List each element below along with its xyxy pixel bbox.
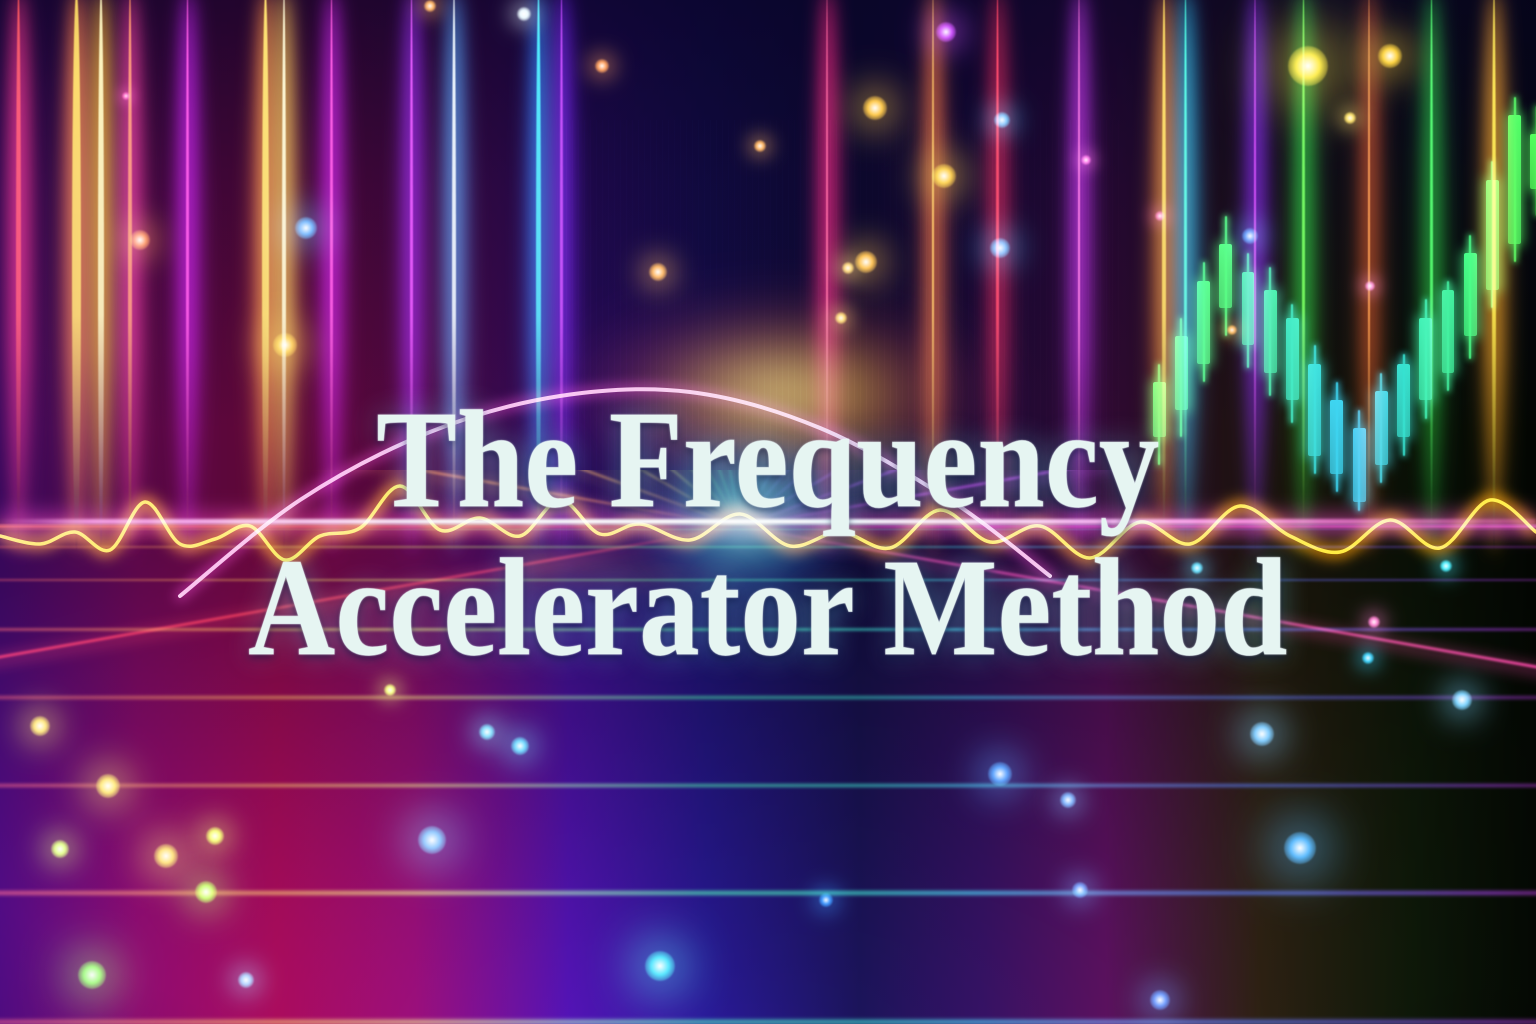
candlestick-body	[1264, 290, 1277, 373]
title-line-1: The Frequency	[0, 393, 1536, 527]
title-card-canvas: The Frequency Accelerator Method	[0, 0, 1536, 1024]
bokeh-dot-5	[863, 96, 887, 120]
candlestick-body	[1242, 272, 1255, 346]
bokeh-dot-24	[424, 0, 436, 12]
candlestick-body	[1286, 318, 1299, 401]
bokeh-dot-11	[295, 217, 317, 239]
bokeh-dot-0	[517, 7, 531, 21]
title-line-2: Accelerator Method	[0, 541, 1536, 675]
candlestick-body	[1486, 180, 1499, 290]
candlestick-body	[1442, 290, 1455, 373]
page-title: The Frequency Accelerator Method	[0, 403, 1536, 664]
candlestick-body	[1530, 134, 1536, 189]
candlestick-body	[1464, 253, 1477, 336]
candlestick-body	[1219, 244, 1232, 308]
bokeh-dot-23	[130, 230, 150, 250]
candlestick-body	[1508, 115, 1521, 244]
bokeh-dot-4	[595, 59, 609, 73]
candlestick-body	[1419, 318, 1432, 401]
bokeh-dot-1	[936, 22, 956, 42]
bokeh-dot-17	[122, 92, 130, 100]
